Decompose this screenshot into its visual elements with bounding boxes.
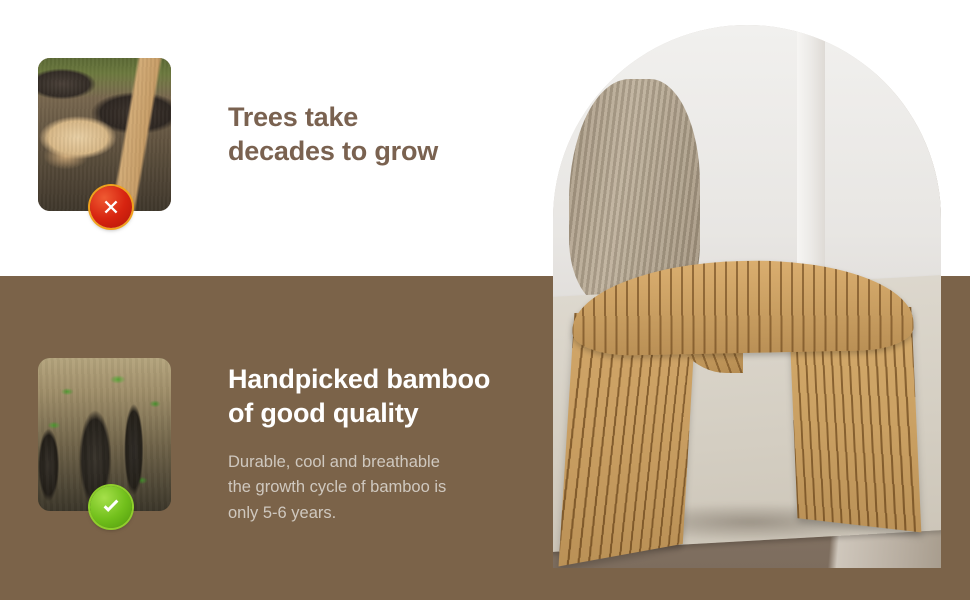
thumbnail-bamboo-wrapper bbox=[38, 358, 171, 511]
bamboo-slat-stool bbox=[553, 25, 941, 568]
check-badge-icon bbox=[90, 486, 132, 528]
stool-seat bbox=[571, 258, 914, 357]
cross-badge-icon bbox=[90, 186, 132, 228]
feature-banner: Trees take decades to grow Handpicked ba… bbox=[0, 0, 970, 600]
headline-trees: Trees take decades to grow bbox=[228, 100, 438, 169]
feature-text-bamboo: Handpicked bamboo of good quality Durabl… bbox=[171, 358, 490, 527]
subtext-bamboo: Durable, cool and breathable the growth … bbox=[228, 450, 490, 528]
headline-bamboo: Handpicked bamboo of good quality bbox=[228, 362, 490, 431]
feature-block-bamboo: Handpicked bamboo of good quality Durabl… bbox=[38, 358, 490, 527]
feature-block-trees: Trees take decades to grow bbox=[38, 58, 438, 211]
product-photo-arch bbox=[553, 25, 941, 568]
thumbnail-trees-wrapper bbox=[38, 58, 171, 211]
feature-text-trees: Trees take decades to grow bbox=[171, 58, 438, 169]
